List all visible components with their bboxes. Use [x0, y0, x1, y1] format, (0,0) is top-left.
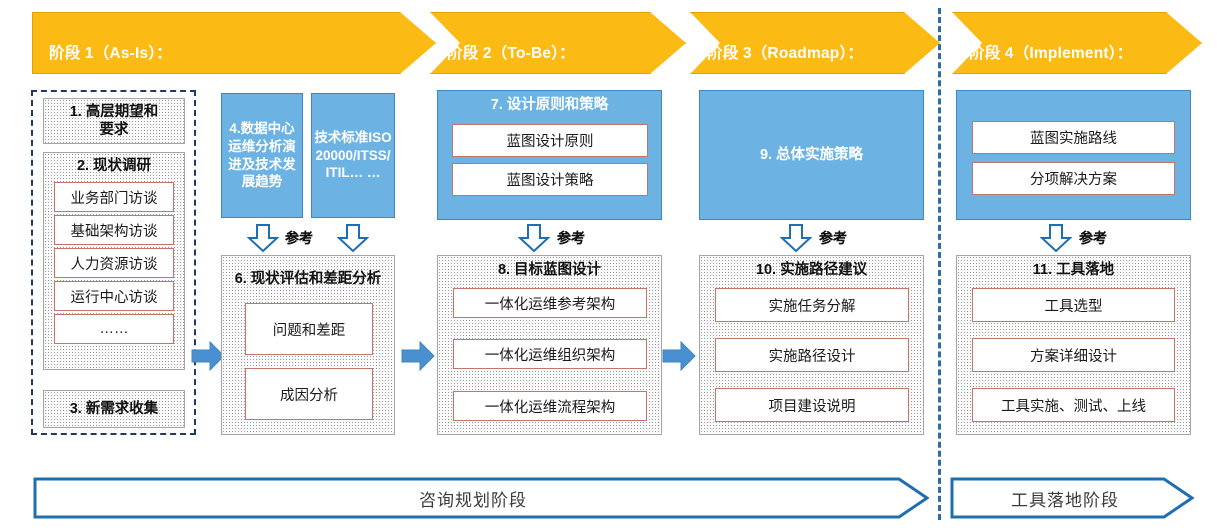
- phase-header-4-line1: 阶段 4（Implement）：: [969, 43, 1201, 65]
- c5-reference-label: 参考: [1079, 228, 1119, 248]
- c2-down-arrow-right: [337, 224, 369, 252]
- phase-header-2-line1: 阶段 2（To-Be）：: [447, 43, 685, 65]
- banner-right-label: 工具落地阶段: [950, 477, 1180, 519]
- c3-down-arrow: [518, 224, 550, 252]
- c2-panel-6-title: 6. 现状评估和差距分析: [225, 259, 391, 299]
- c2-item-0[interactable]: 问题和差距: [245, 303, 373, 355]
- c2-tile-right[interactable]: 技术标准ISO20000/ITSS/ITIL… …: [311, 93, 395, 218]
- c3-reference-label: 参考: [557, 228, 597, 248]
- c3-blue-item-1[interactable]: 蓝图设计策略: [452, 163, 648, 196]
- c2-item-1[interactable]: 成因分析: [245, 368, 373, 420]
- c2-down-arrow-left: [247, 224, 279, 252]
- arrow-col2-to-col3: [400, 338, 436, 374]
- c5-item-1[interactable]: 方案详细设计: [972, 338, 1175, 372]
- c1-box-2-title: 2. 现状调研: [43, 155, 185, 177]
- c3-item-2[interactable]: 一体化运维流程架构: [453, 391, 647, 421]
- c3-item-1[interactable]: 一体化运维组织架构: [453, 339, 647, 369]
- arrow-col3-to-col4: [661, 338, 697, 374]
- c2-tile-left[interactable]: 4.数据中心运维分析演进及技术发展趋势: [221, 93, 303, 218]
- c1-item-2[interactable]: 人力资源访谈: [54, 248, 174, 278]
- phase-header-1-line1: 阶段 1（As-Is）：: [49, 43, 435, 65]
- c1-item-3[interactable]: 运行中心访谈: [54, 281, 174, 311]
- c5-down-arrow: [1040, 224, 1072, 252]
- c4-panel-10-title: 10. 实施路径建议: [699, 259, 924, 281]
- c5-item-0[interactable]: 工具选型: [972, 288, 1175, 322]
- phase-header-3[interactable]: 阶段 3（Roadmap）： 实施策略和演进路线: [690, 12, 940, 74]
- c5-panel-11-title: 11. 工具落地: [956, 259, 1191, 281]
- c5-panel: [956, 90, 1191, 220]
- phase-header-3-line1: 阶段 3（Roadmap）：: [707, 43, 939, 65]
- c4-item-2[interactable]: 项目建设说明: [715, 388, 909, 422]
- banner-left-label: 咨询规划阶段: [33, 477, 913, 519]
- c4-item-1[interactable]: 实施路径设计: [715, 338, 909, 372]
- c5-blue-item-1[interactable]: 分项解决方案: [972, 162, 1175, 195]
- c3-item-0[interactable]: 一体化运维参考架构: [453, 288, 647, 318]
- c2-reference-label: 参考: [285, 228, 325, 248]
- c4-item-0[interactable]: 实施任务分解: [715, 288, 909, 322]
- c1-item-0[interactable]: 业务部门访谈: [54, 182, 174, 212]
- c4-reference-label: 参考: [819, 228, 859, 248]
- c3-blue-item-0[interactable]: 蓝图设计原则: [452, 124, 648, 157]
- c4-down-arrow: [780, 224, 812, 252]
- c1-box-1[interactable]: 1. 高层期望和 要求: [43, 98, 185, 144]
- c4-panel-9-title: 9. 总体实施策略: [699, 90, 924, 220]
- phase-header-4[interactable]: 阶段 4（Implement）： 工具选型与落地: [952, 12, 1202, 74]
- phase-divider: [938, 8, 941, 520]
- c3-panel-8-title: 8. 目标蓝图设计: [437, 259, 662, 281]
- c3-panel-7-title: 7. 设计原则和策略: [437, 94, 662, 116]
- c1-item-1[interactable]: 基础架构访谈: [54, 215, 174, 245]
- c1-item-4[interactable]: ……: [54, 314, 174, 344]
- phase-header-1[interactable]: 阶段 1（As-Is）： 现状调研和评估: [32, 12, 436, 74]
- c5-blue-item-0[interactable]: 蓝图实施路线: [972, 121, 1175, 154]
- phase-header-2[interactable]: 阶段 2（To-Be）： 蓝图设计和目标定义: [430, 12, 686, 74]
- c1-box-3[interactable]: 3. 新需求收集: [43, 390, 185, 428]
- c5-item-2[interactable]: 工具实施、测试、上线: [972, 388, 1175, 422]
